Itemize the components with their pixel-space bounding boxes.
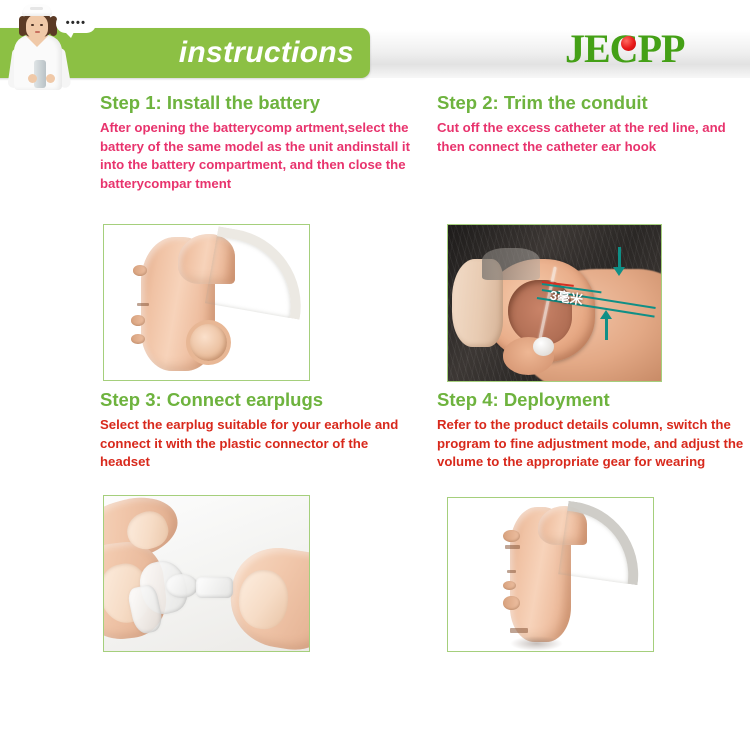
step-2-title: Step 2: Trim the conduit [437,92,747,114]
hearing-aid-control-1 [133,265,147,276]
nurse-right-hand [46,74,55,83]
hearing-aid-control-2 [131,315,145,326]
nurse-left-hand [28,74,37,83]
hearing-aid-ear-hook [205,227,310,321]
hearing-aid-control-3 [131,334,145,345]
step-2-photo: 3毫米 [447,224,662,382]
speech-bubble: •••• [56,14,96,33]
nurse-eye-left [31,24,34,26]
step-3-text-block: Step 3: Connect earplugs Select the earp… [100,389,420,472]
step-3-title: Step 3: Connect earplugs [100,389,420,411]
hearing-aid-drop-shadow [510,636,563,651]
nurse-eye-right [40,24,43,26]
step-1-body: After opening the batterycomp artment,se… [100,119,420,193]
hearing-aid-ear-hook-side [558,500,647,585]
hearing-aid-battery-door-photo [104,225,309,380]
step-4-text-block: Step 4: Deployment Refer to the product … [437,389,747,472]
hearing-aid-slot-upper [505,545,519,549]
step-1-photo [103,224,310,381]
speech-bubble-dots: •••• [66,18,87,29]
step-4-body: Refer to the product details column, swi… [437,416,747,471]
hearing-aid-vent-slot [137,303,149,306]
nurse-cap [22,4,52,16]
step-3-photo [103,495,310,652]
step-3-body: Select the earplug suitable for your ear… [100,416,420,471]
hearing-aid-battery-edge [510,628,528,633]
instructions-banner-label: instructions [179,36,354,70]
page-header: instructions •••• JECPP [0,0,750,88]
nurse-face [26,14,48,39]
hearing-aid-volume-control [503,581,515,590]
earplug-connector-photo [104,496,309,651]
step-1-text-block: Step 1: Install the battery After openin… [100,92,420,193]
brand-logo: JECPP [565,27,684,71]
brand-logo-red-dot-icon [621,36,636,51]
step-4-photo [447,497,654,652]
step-2-text-block: Step 2: Trim the conduit Cut off the exc… [437,92,747,156]
hearing-aid-microphone-port [507,570,515,573]
step-1-title: Step 1: Install the battery [100,92,420,114]
step-2-body: Cut off the excess catheter at the red l… [437,119,747,156]
ear-worn-hearing-aid-measurement-photo: 3毫米 [448,225,661,381]
step-4-title: Step 4: Deployment [437,389,747,411]
hearing-aid-switch [503,596,519,610]
plastic-connector [196,577,233,599]
hearing-aid-battery-door [186,320,231,365]
nurse-held-object [34,60,46,88]
hearing-aid-side-view-photo [448,498,653,651]
worn-hearing-aid-hook [482,248,540,279]
earplug-opening [166,574,199,599]
nurse-mouth [35,31,40,33]
